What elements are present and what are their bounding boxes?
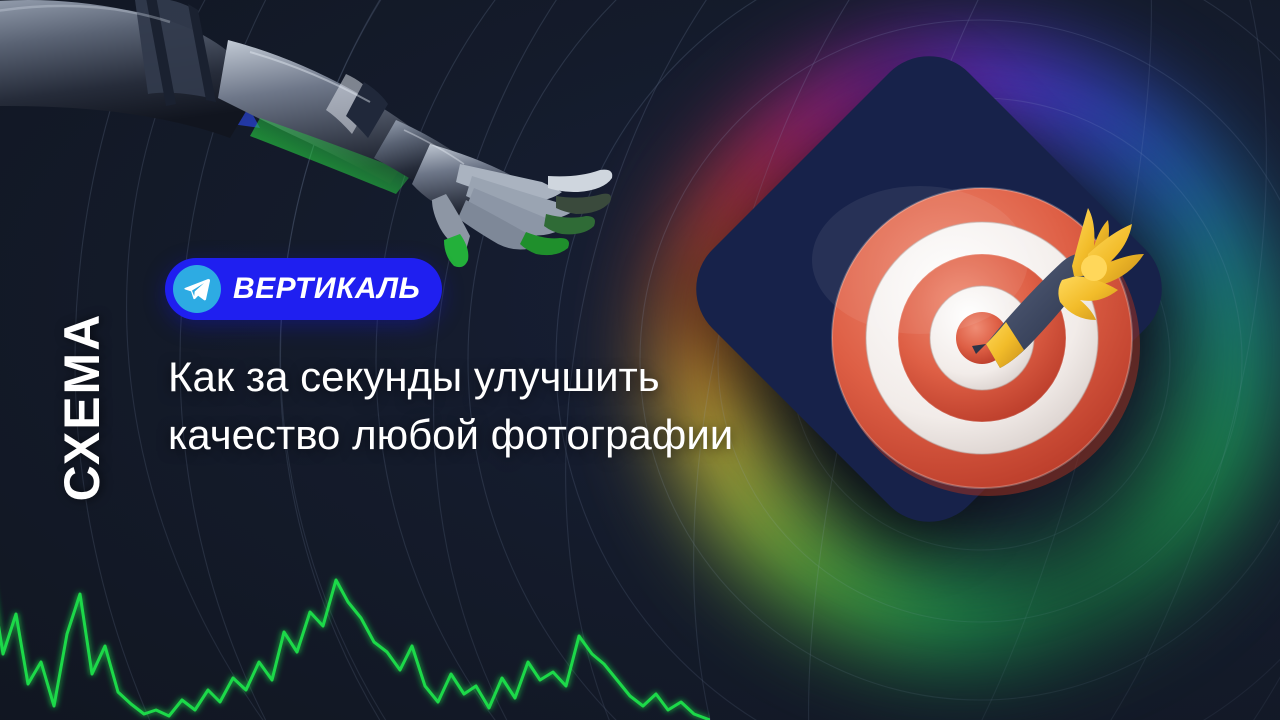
promo-banner: СХЕМА ВЕРТИКАЛЬ Как за секунды улучшить … <box>0 0 1280 720</box>
headline-line-2: качество любой фотографии <box>168 406 828 464</box>
headline-line-1: Как за секунды улучшить <box>168 348 828 406</box>
telegram-channel-name: ВЕРТИКАЛЬ <box>233 272 420 306</box>
chart-series-market-trend <box>0 572 710 720</box>
target-bullseye-icon <box>800 150 1170 520</box>
vertical-section-label: СХЕМА <box>53 277 111 537</box>
telegram-channel-badge[interactable]: ВЕРТИКАЛЬ <box>165 258 442 320</box>
robot-arm-icon <box>0 0 680 268</box>
headline: Как за секунды улучшить качество любой ф… <box>168 348 828 464</box>
telegram-paper-plane-icon <box>173 265 221 313</box>
